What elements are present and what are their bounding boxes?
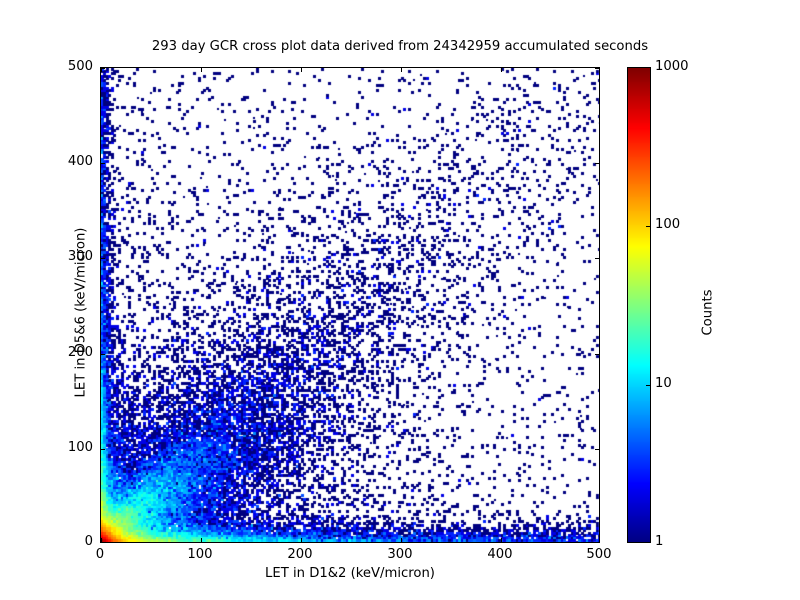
y-tick-mark [595,449,599,450]
y-tick-mark [101,68,105,69]
x-tick-mark [101,538,102,542]
y-tick-mark [101,449,105,450]
x-tick-label-0: 0 [70,547,130,562]
x-tick-label-200: 200 [270,547,330,562]
x-tick-label-400: 400 [470,547,530,562]
figure-canvas: 293 day GCR cross plot data derived from… [0,0,800,600]
y-tick-mark [101,354,105,355]
colorbar-tick-label-10: 10 [655,376,672,391]
y-tick-mark [101,163,105,164]
chart-title-line-1: 293 day GCR cross plot data derived from… [0,39,800,55]
colorbar-label: Counts [701,213,716,413]
y-tick-mark [595,258,599,259]
x-tick-label-300: 300 [370,547,430,562]
plot-axes[interactable] [100,67,600,543]
x-tick-mark [201,68,202,72]
x-tick-mark [501,68,502,72]
x-tick-mark [301,538,302,542]
colorbar-tick-mark [646,385,650,386]
x-tick-mark [201,538,202,542]
colorbar-tick-label-100: 100 [655,217,680,232]
y-tick-label-0: 0 [38,534,93,549]
x-tick-mark [301,68,302,72]
colorbar-gradient [628,68,651,543]
x-tick-label-500: 500 [569,547,629,562]
y-tick-mark [101,258,105,259]
y-axis-label: LET in D5&6 (keV/micron) [74,148,89,478]
density-scatter-plot [101,68,600,543]
y-tick-mark [595,68,599,69]
x-tick-mark [401,538,402,542]
y-tick-mark [595,354,599,355]
colorbar-tick-mark [646,226,650,227]
x-tick-label-100: 100 [170,547,230,562]
y-tick-mark [595,163,599,164]
x-tick-mark [401,68,402,72]
x-tick-mark [501,538,502,542]
x-axis-label: LET in D1&2 (keV/micron) [100,566,600,581]
colorbar-tick-label-1: 1 [655,534,663,549]
y-tick-label-500: 500 [38,59,93,74]
colorbar[interactable] [627,67,651,543]
colorbar-tick-label-1000: 1000 [655,59,689,74]
